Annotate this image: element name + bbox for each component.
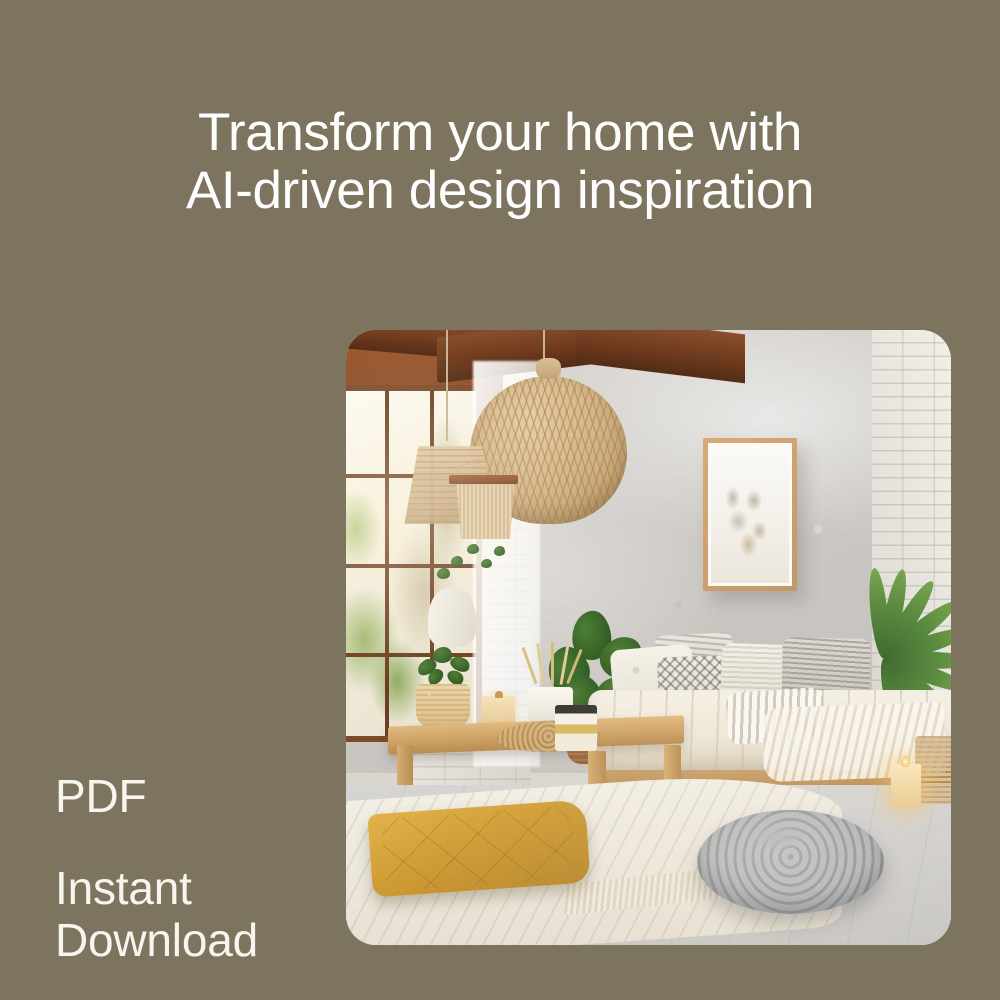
page-title: Transform your home with AI-driven desig… [0, 104, 1000, 220]
pendant-cord-small [446, 330, 448, 441]
macrame-wood-rod [449, 475, 519, 485]
chunky-knit-grey-pouf [697, 810, 885, 915]
pillar-candle [891, 764, 921, 807]
art-canvas [708, 443, 792, 587]
striped-decorative-vessel [555, 705, 597, 751]
woven-planter-basket [416, 684, 470, 727]
living-room-scene [346, 330, 951, 945]
hero-interior-photo [346, 330, 951, 945]
format-label-pdf: PDF [55, 770, 146, 822]
mustard-quilted-floor-cushion [368, 799, 591, 897]
coffee-table-leg-left [397, 745, 413, 788]
macrame-wall-hanging [457, 484, 514, 539]
delivery-label-instant-download: Instant Download [55, 862, 258, 966]
dried-grass-arrangement [521, 641, 588, 693]
framed-botanical-art [703, 438, 797, 592]
